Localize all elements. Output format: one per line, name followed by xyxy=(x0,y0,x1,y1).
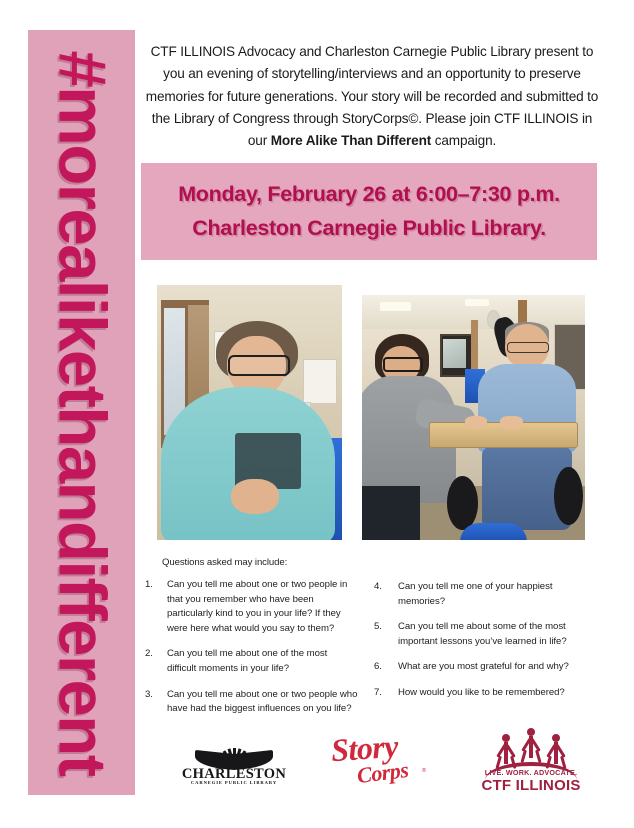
question-number: 6. xyxy=(372,660,398,675)
storycorps-logo-line2: Corps xyxy=(356,757,410,789)
question-text: Can you tell me about one or two people … xyxy=(167,578,372,636)
question-text: How would you like to be remembered? xyxy=(398,686,601,701)
event-datetime: Monday, February 26 at 6:00–7:30 p.m. xyxy=(178,182,560,207)
question-number: 1. xyxy=(143,578,167,636)
footer-logos: CHARLESTON CARNEGIE PUBLIC LIBRARY Story… xyxy=(141,722,599,794)
photo2-wheelchair-wheel-right xyxy=(554,467,583,526)
question-number: 7. xyxy=(372,686,398,701)
question-text: Can you tell me about one or two people … xyxy=(167,688,372,717)
figure-head xyxy=(527,728,535,736)
question-item: 2. Can you tell me about one of the most… xyxy=(143,647,372,676)
intro-campaign-name: More Alike Than Different xyxy=(271,133,431,148)
figure-leg-right xyxy=(535,750,542,763)
charleston-library-logo: CHARLESTON CARNEGIE PUBLIC LIBRARY xyxy=(179,730,289,788)
storycorps-logo: Story Corps ® xyxy=(327,724,437,792)
question-number: 4. xyxy=(372,580,398,609)
date-location-banner: Monday, February 26 at 6:00–7:30 p.m. Ch… xyxy=(141,163,597,260)
question-item: 5. Can you tell me about some of the mos… xyxy=(372,620,601,649)
ctf-logo-name: CTF ILLINOIS xyxy=(477,777,585,794)
photo2-wheelchair-wheel-left xyxy=(447,476,478,530)
questions-column-right: 4. Can you tell me one of your happiest … xyxy=(372,578,601,728)
question-number: 5. xyxy=(372,620,398,649)
photo2-blue-mat xyxy=(460,523,527,540)
figure-head xyxy=(502,734,510,742)
ctf-illinois-logo: LIVE. WORK. ADVOCATE. CTF ILLINOIS xyxy=(477,722,585,794)
question-number: 3. xyxy=(143,688,167,717)
photo2-man-glasses xyxy=(507,342,549,354)
question-number: 2. xyxy=(143,647,167,676)
question-text: Can you tell me about one of the most di… xyxy=(167,647,372,676)
charleston-logo-subtitle: CARNEGIE PUBLIC LIBRARY xyxy=(179,780,289,785)
photo2-woman-glasses xyxy=(383,357,423,371)
photo1-person-hands xyxy=(231,479,279,515)
question-text: What are you most grateful for and why? xyxy=(398,660,601,675)
photo-woman-teal-shirt xyxy=(157,285,342,540)
question-item: 4. Can you tell me one of your happiest … xyxy=(372,580,601,609)
photo2-man-left-hand xyxy=(465,416,487,428)
photo-row xyxy=(157,285,603,540)
hashtag-band: #morealikethandifferent xyxy=(28,30,135,795)
question-item: 3. Can you tell me about one or two peop… xyxy=(143,688,372,717)
questions-heading: Questions asked may include: xyxy=(162,557,287,568)
photo2-ceiling-light-2 xyxy=(465,299,490,306)
photo1-wall-chart xyxy=(303,359,336,404)
intro-text-part2: campaign. xyxy=(431,133,496,148)
question-text: Can you tell me one of your happiest mem… xyxy=(398,580,601,609)
flyer-content: CTF ILLINOIS Advocacy and Charleston Car… xyxy=(141,30,603,798)
question-item: 1. Can you tell me about one or two peop… xyxy=(143,578,372,636)
ctf-figures-group xyxy=(477,724,585,764)
photo1-person-glasses xyxy=(228,355,289,376)
photo2-man-right-hand xyxy=(500,416,522,428)
figure-head xyxy=(552,734,560,742)
question-text: Can you tell me about some of the most i… xyxy=(398,620,601,649)
questions-columns: 1. Can you tell me about one or two peop… xyxy=(143,578,601,728)
registered-trademark-icon: ® xyxy=(422,768,426,774)
ctf-tagline: LIVE. WORK. ADVOCATE. xyxy=(477,768,585,777)
event-location: Charleston Carnegie Public Library. xyxy=(192,216,546,241)
question-item: 7. How would you like to be remembered? xyxy=(372,686,601,701)
figure-leg-left xyxy=(520,750,527,763)
photo2-woman-legs xyxy=(362,486,420,540)
hashtag-text: #morealikethandifferent xyxy=(43,50,120,775)
question-item: 6. What are you most grateful for and wh… xyxy=(372,660,601,675)
person-raised-arms-icon xyxy=(518,724,544,762)
photo-two-people-wheelchair xyxy=(362,295,585,540)
photo2-mirror xyxy=(443,339,465,368)
intro-paragraph: CTF ILLINOIS Advocacy and Charleston Car… xyxy=(144,41,600,152)
questions-column-left: 1. Can you tell me about one or two peop… xyxy=(143,578,372,728)
photo2-ceiling-light xyxy=(380,302,411,311)
